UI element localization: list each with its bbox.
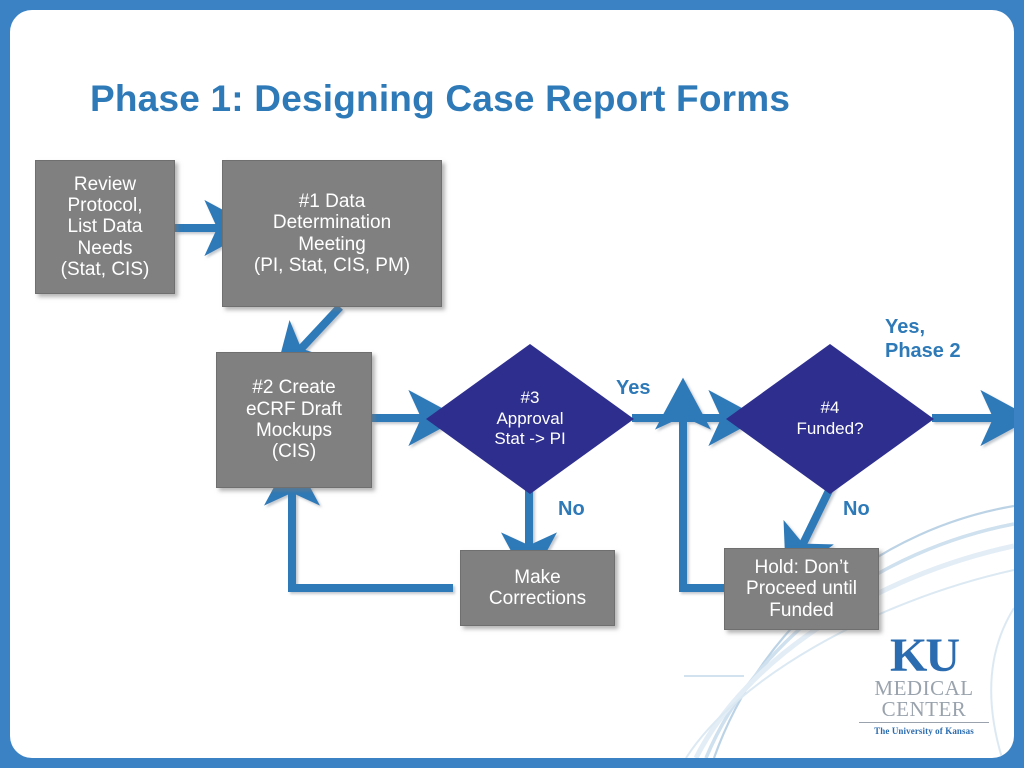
page-title: Phase 1: Designing Case Report Forms [90,78,970,120]
node-hold-until-funded[interactable]: Hold: Don’t Proceed until Funded [724,548,879,630]
slide-frame: Phase 1: Designing Case Report Forms Rev… [0,0,1024,768]
node-make-corrections[interactable]: Make Corrections [460,550,615,626]
edge-label-funded-no: No [843,497,870,521]
node-create-ecrf-mockups[interactable]: #2 Create eCRF Draft Mockups (CIS) [216,352,372,488]
slide-canvas: Phase 1: Designing Case Report Forms Rev… [10,10,1014,758]
edge-label-funded-yes-phase2: Yes, Phase 2 [885,315,961,363]
node-review-protocol[interactable]: Review Protocol, List Data Needs (Stat, … [35,160,175,294]
logo-tagline: The University of Kansas [859,726,989,736]
node-data-determination-meeting[interactable]: #1 Data Determination Meeting (PI, Stat,… [222,160,442,307]
logo-center-text: CENTER [859,699,989,723]
logo-medical-text: MEDICAL [859,678,989,699]
edge-label-approval-no: No [558,497,585,521]
logo-ku-text: KU [859,634,989,678]
edge-label-approval-yes: Yes [616,376,650,400]
ku-medical-center-logo: KU MEDICAL CENTER The University of Kans… [859,634,989,736]
